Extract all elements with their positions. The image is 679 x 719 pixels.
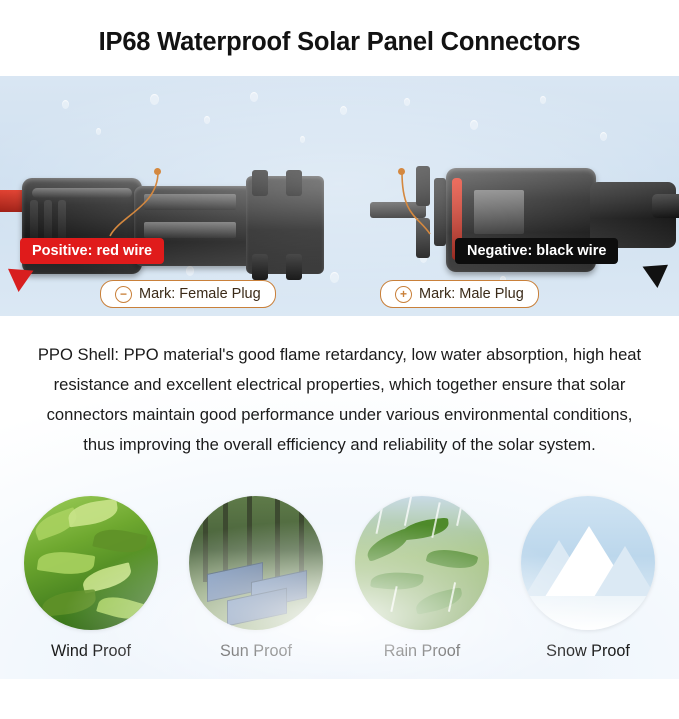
feature-label: Rain Proof: [355, 642, 489, 661]
rain-proof-image: [355, 496, 489, 630]
female-mark-pill: − Mark: Female Plug: [100, 280, 276, 308]
feature-label: Sun Proof: [189, 642, 323, 661]
feature-item-sun: Sun Proof: [189, 496, 323, 661]
male-mark-pill: + Mark: Male Plug: [380, 280, 539, 308]
snow-proof-image: [521, 496, 655, 630]
black-wire: [652, 194, 679, 218]
female-connector-image: [0, 166, 344, 291]
right-arrow-icon: [643, 254, 676, 288]
sun-proof-image: [189, 496, 323, 630]
feature-item-snow: Snow Proof: [521, 496, 655, 661]
product-infographic: IP68 Waterproof Solar Panel Connectors: [0, 0, 679, 679]
feature-row: Wind Proof Sun Proof: [0, 496, 679, 656]
negative-label: Negative: black wire: [455, 238, 618, 264]
wind-proof-image: [24, 496, 158, 630]
male-mark-text: Mark: Male Plug: [419, 286, 524, 302]
male-anchor-dot: [398, 168, 405, 175]
female-nose: [246, 176, 324, 274]
feature-item-rain: Rain Proof: [355, 496, 489, 661]
male-pin: [370, 202, 426, 218]
connector-photo: [0, 76, 679, 316]
water-droplets: [0, 76, 679, 316]
feature-label: Snow Proof: [521, 642, 655, 661]
male-connector-image: [352, 160, 679, 295]
female-mark-text: Mark: Female Plug: [139, 286, 261, 302]
minus-icon: −: [115, 286, 132, 303]
feature-item-wind: Wind Proof: [24, 496, 158, 661]
plus-icon: +: [395, 286, 412, 303]
positive-label: Positive: red wire: [20, 238, 164, 264]
description-paragraph: PPO Shell: PPO material's good flame ret…: [30, 340, 649, 460]
red-wire: [0, 190, 38, 212]
female-anchor-dot: [154, 168, 161, 175]
feature-label: Wind Proof: [24, 642, 158, 661]
page-title: IP68 Waterproof Solar Panel Connectors: [0, 28, 679, 57]
